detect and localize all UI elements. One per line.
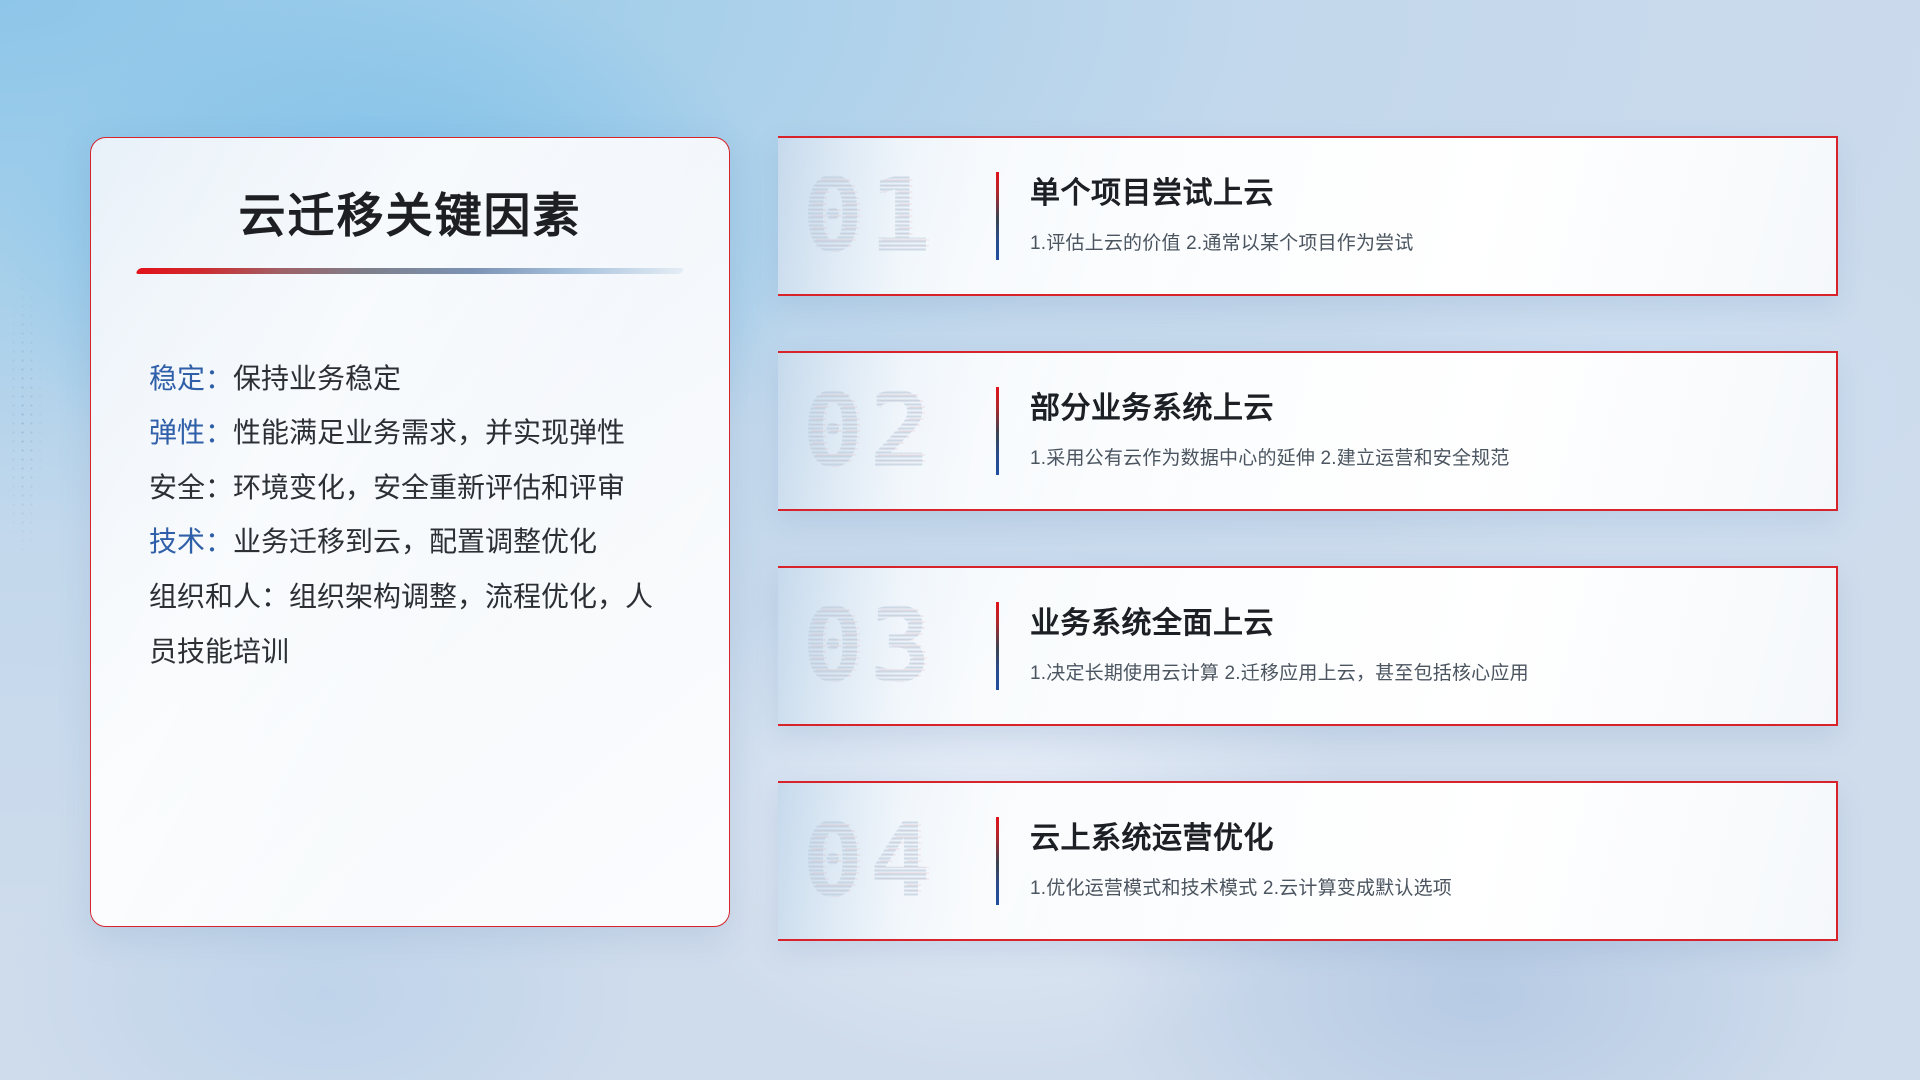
stage-subtitle: 1.评估上云的价值 2.通常以某个项目作为尝试 [1030,228,1812,255]
list-item-label: 弹性： [149,417,233,448]
key-factors-list: 稳定：保持业务稳定 弹性：性能满足业务需求，并实现弹性 安全：环境变化，安全重新… [137,352,683,680]
stage-divider-bar [996,172,999,260]
stage-subtitle: 1.采用公有云作为数据中心的延伸 2.建立运营和安全规范 [1030,443,1812,470]
stage-title: 部分业务系统上云 [1030,383,1812,427]
list-item-label: 稳定： [149,363,233,394]
stage-number: 02 [802,372,937,491]
stage-number: 03 [802,587,937,706]
stage-number: 01 [802,157,937,276]
list-item-label: 组织和人： [149,581,289,612]
list-item: 技术：业务迁移到云，配置调整优化 [149,515,671,570]
list-item-text: 保持业务稳定 [233,363,401,394]
key-factors-card: 云迁移关键因素 稳定：保持业务稳定 弹性：性能满足业务需求，并实现弹性 安全：环… [90,137,730,927]
stage-card[interactable]: 04 04 云上系统运营优化 1.优化运营模式和技术模式 2.云计算变成默认选项 [778,781,1838,941]
page-title: 云迁移关键因素 [137,190,683,242]
stage-card[interactable]: 02 02 部分业务系统上云 1.采用公有云作为数据中心的延伸 2.建立运营和安… [778,351,1838,511]
stage-subtitle: 1.决定长期使用云计算 2.迁移应用上云，甚至包括核心应用 [1030,658,1812,685]
list-item: 弹性：性能满足业务需求，并实现弹性 [149,406,671,461]
list-item-text: 性能满足业务需求，并实现弹性 [233,417,625,448]
stage-card-list: 01 01 单个项目尝试上云 1.评估上云的价值 2.通常以某个项目作为尝试 0… [778,136,1838,996]
stage-title: 云上系统运营优化 [1030,813,1812,857]
list-item: 安全：环境变化，安全重新评估和评审 [149,461,671,516]
stage-subtitle: 1.优化运营模式和技术模式 2.云计算变成默认选项 [1030,873,1812,900]
list-item-text: 业务迁移到云，配置调整优化 [233,526,597,557]
list-item: 组织和人：组织架构调整，流程优化，人员技能培训 [149,570,671,679]
list-item: 稳定：保持业务稳定 [149,352,671,407]
stage-number: 04 [802,802,937,921]
stage-divider-bar [996,387,999,475]
list-item-text: 环境变化，安全重新评估和评审 [233,472,625,503]
list-item-label: 安全： [149,472,233,503]
title-underline-gradient [135,268,685,274]
stage-card[interactable]: 01 01 单个项目尝试上云 1.评估上云的价值 2.通常以某个项目作为尝试 [778,136,1838,296]
stage-divider-bar [996,602,999,690]
stage-title: 业务系统全面上云 [1030,598,1812,642]
stage-title: 单个项目尝试上云 [1030,168,1812,212]
stage-card[interactable]: 03 03 业务系统全面上云 1.决定长期使用云计算 2.迁移应用上云，甚至包括… [778,566,1838,726]
list-item-label: 技术： [149,526,233,557]
stage-divider-bar [996,817,999,905]
